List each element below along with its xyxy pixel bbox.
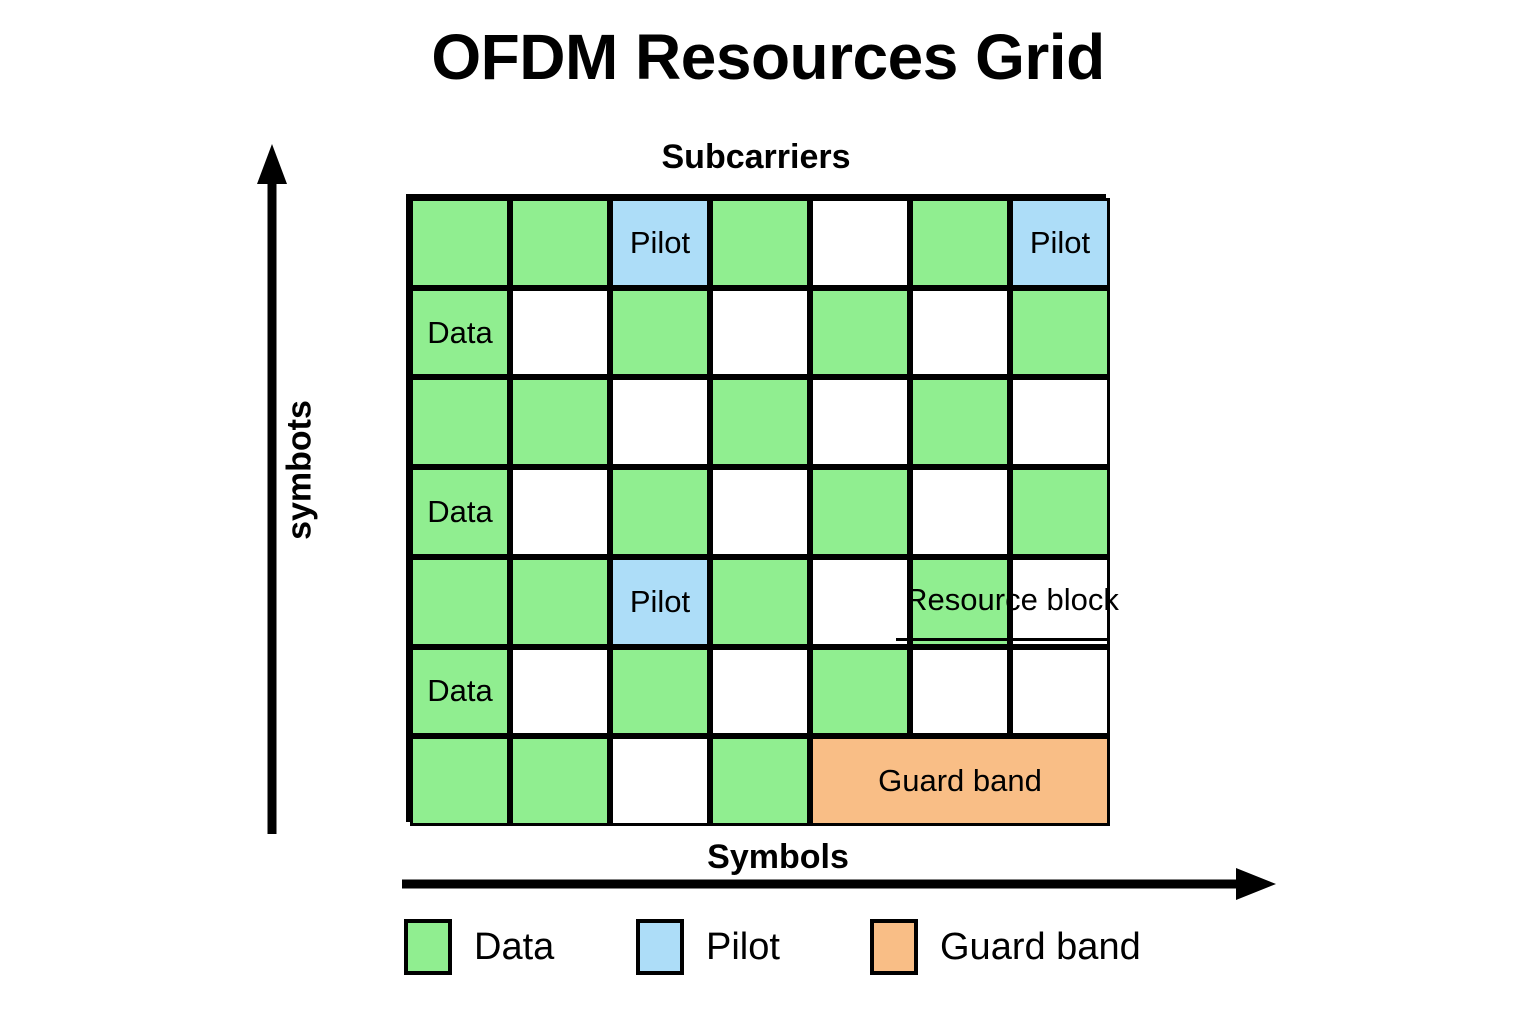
grid-cell-r1-c6 [910, 198, 1010, 288]
grid-cell-r1-c5 [810, 198, 910, 288]
grid-cell-r5-c1 [410, 557, 510, 647]
guard-band-label: Guard band [878, 763, 1042, 799]
grid-cell-r5-c6 [910, 557, 1010, 647]
grid-cell-r3-c5 [810, 377, 910, 467]
grid-cell-r2-c6 [910, 288, 1010, 378]
cell-label: Pilot [1030, 225, 1090, 261]
up-arrow-icon [255, 142, 289, 834]
grid-cell-r1-c7: Pilot [1010, 198, 1110, 288]
grid-cell-r7-c2 [510, 736, 610, 826]
grid-cell-r5-c2 [510, 557, 610, 647]
grid-cell-r3-c4 [710, 377, 810, 467]
grid-cell-r7-c4 [710, 736, 810, 826]
grid-cell-r7-c1 [410, 736, 510, 826]
grid-cell-r1-c3: Pilot [610, 198, 710, 288]
cell-label: Data [427, 494, 492, 530]
legend-item-pilot: Pilot [636, 916, 780, 978]
grid-cell-r6-c4 [710, 647, 810, 737]
grid-cell-r3-c6 [910, 377, 1010, 467]
grid-cell-r6-c3 [610, 647, 710, 737]
grid-cell-r6-c2 [510, 647, 610, 737]
grid-cell-r2-c3 [610, 288, 710, 378]
grid-cell-r4-c1: Data [410, 467, 510, 557]
guard-band-block: Guard band [810, 736, 1110, 826]
page-title: OFDM Resources Grid [0, 24, 1536, 91]
grid-cell-r4-c2 [510, 467, 610, 557]
grid-cell-r5-c5 [810, 557, 910, 647]
grid-cell-r6-c5 [810, 647, 910, 737]
grid-cell-r6-c6 [910, 647, 1010, 737]
grid-cell-r4-c4 [710, 467, 810, 557]
grid-cell-r2-c7 [1010, 288, 1110, 378]
legend-item-guard: Guard band [870, 916, 1141, 978]
subcarriers-axis-label: Subcarriers [406, 138, 1106, 177]
grid-cell-r3-c2 [510, 377, 610, 467]
grid-cell-r5-c4 [710, 557, 810, 647]
grid-cell-r5-c3: Pilot [610, 557, 710, 647]
grid-cell-r2-c4 [710, 288, 810, 378]
grid-cell-r2-c2 [510, 288, 610, 378]
grid-cell-r7-c3 [610, 736, 710, 826]
legend-label-guard: Guard band [940, 926, 1141, 969]
cell-label: Data [427, 673, 492, 709]
grid-cell-r3-c1 [410, 377, 510, 467]
grid-cell-r1-c2 [510, 198, 610, 288]
grid-cell-r4-c7 [1010, 467, 1110, 557]
legend-swatch-pilot [636, 919, 684, 975]
grid-cell-r4-c6 [910, 467, 1010, 557]
grid-cell-r4-c5 [810, 467, 910, 557]
resource-grid: PilotPilotDataDataPilotDataGuard bandRes… [406, 194, 1106, 822]
ofdm-resource-grid-figure: OFDM Resources Grid Subcarriers symbots … [0, 0, 1536, 1024]
cell-label: Pilot [630, 584, 690, 620]
symbols-axis-label: Symbols [688, 838, 868, 877]
legend-item-data: Data [404, 916, 554, 978]
legend-label-pilot: Pilot [706, 926, 780, 969]
legend-label-data: Data [474, 926, 554, 969]
grid-cell-r2-c1: Data [410, 288, 510, 378]
grid-cell-r6-c1: Data [410, 647, 510, 737]
legend-swatch-data [404, 919, 452, 975]
grid-cell-r4-c3 [610, 467, 710, 557]
grid-cell-r1-c1 [410, 198, 510, 288]
grid-cell-r2-c5 [810, 288, 910, 378]
grid-cell-r3-c3 [610, 377, 710, 467]
grid-cell-r1-c4 [710, 198, 810, 288]
resource-block-leader-line [896, 638, 1110, 641]
grid-cell-r6-c7 [1010, 647, 1110, 737]
legend: DataPilotGuard band [404, 916, 1164, 978]
cell-label: Pilot [630, 225, 690, 261]
grid-cell-r3-c7 [1010, 377, 1110, 467]
grid-cell-r5-c7 [1010, 557, 1110, 647]
legend-swatch-guard [870, 919, 918, 975]
cell-label: Data [427, 315, 492, 351]
